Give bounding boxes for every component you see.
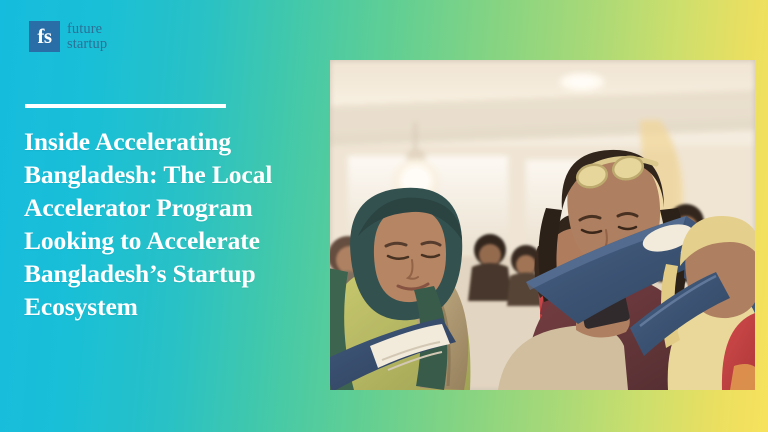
featured-photo-illustration — [330, 60, 755, 390]
brand-wordmark-line-2: startup — [67, 37, 107, 52]
photo-light-wash — [330, 60, 755, 390]
featured-image-card: fs future startup Inside Accelerating Ba… — [0, 0, 768, 432]
brand-logo[interactable]: fs future startup — [29, 21, 107, 52]
headline-divider — [25, 104, 226, 108]
featured-photo — [330, 60, 755, 390]
brand-wordmark-line-1: future — [67, 22, 107, 37]
brand-wordmark: future startup — [67, 22, 107, 51]
page-title: Inside Accelerating Bangladesh: The Loca… — [24, 125, 334, 323]
fs-monogram-icon: fs — [29, 21, 60, 52]
